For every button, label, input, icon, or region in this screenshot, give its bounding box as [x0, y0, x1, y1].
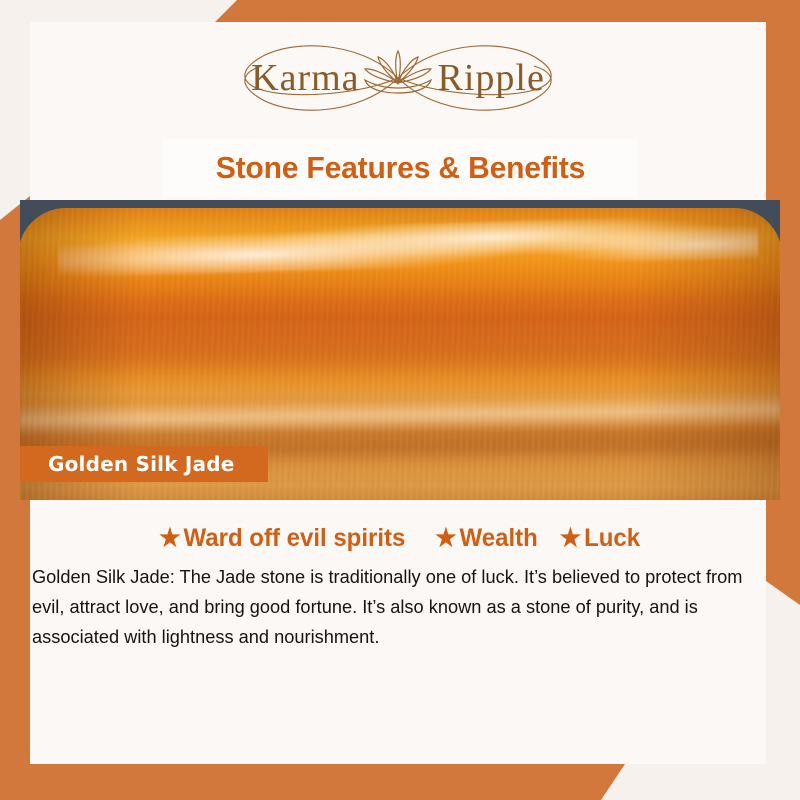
brand-name-right: Ripple [438, 56, 545, 100]
star-icon: ★ [435, 526, 457, 551]
benefit-item: ★ Luck [559, 524, 639, 553]
benefit-item: ★ Wealth [435, 524, 538, 553]
star-icon: ★ [559, 526, 581, 551]
benefits-row: ★ Ward off evil spirits ★ Wealth ★ Luck [30, 518, 766, 558]
benefit-label: Luck [584, 524, 640, 553]
page-title: Stone Features & Benefits [215, 150, 584, 186]
benefit-item: ★ Ward off evil spirits [160, 524, 406, 553]
stone-name-label: Golden Silk Jade [20, 452, 235, 476]
brand-name-left: Karma [251, 56, 359, 100]
frame-bottom-bar [0, 764, 625, 800]
star-icon: ★ [160, 526, 182, 551]
benefit-label: Ward off evil spirits [184, 524, 406, 553]
stone-description: Golden Silk Jade: The Jade stone is trad… [32, 562, 763, 652]
section-title-banner: Stone Features & Benefits [163, 139, 637, 197]
brand-wordmark: Karma Ripple [251, 56, 545, 100]
product-photo: Golden Silk Jade [20, 200, 780, 500]
stone-name-tag: Golden Silk Jade [20, 446, 268, 482]
product-info-card: Karma Ripple Stone Features & Benefits G… [0, 0, 800, 800]
benefit-label: Wealth [459, 524, 537, 553]
brand-logo: Karma Ripple [30, 22, 766, 134]
frame-top-bar [215, 0, 800, 22]
